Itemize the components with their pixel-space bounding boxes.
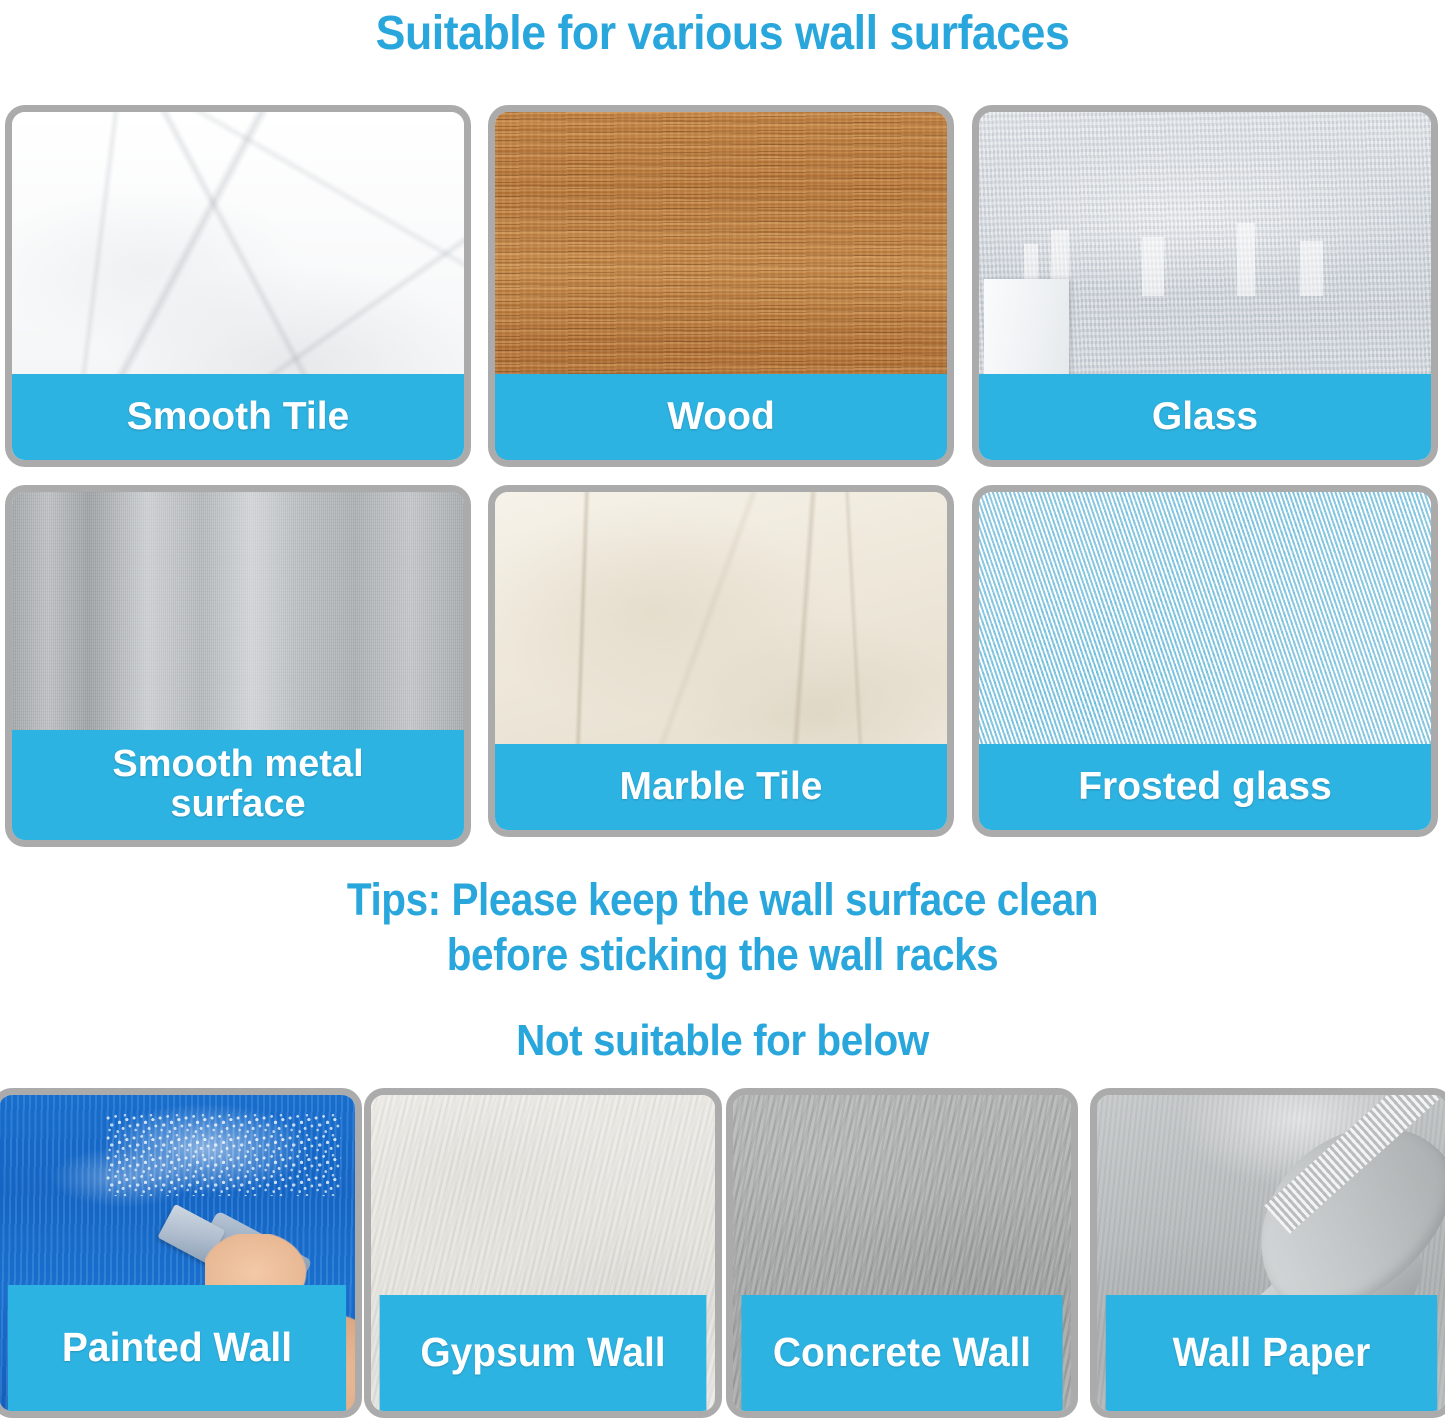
surface-card-label: Wood: [495, 374, 947, 460]
unsuitable-card-painted-wall: Painted Wall: [0, 1088, 362, 1418]
surface-card-label: Smooth metal surface: [12, 730, 464, 840]
surface-card-marble-tile: Marble Tile: [488, 485, 954, 837]
unsuitable-card-label: Wall Paper: [1106, 1295, 1438, 1411]
surface-card-smooth-metal-surface: Smooth metal surface: [5, 485, 471, 847]
building-silhouette: [1237, 223, 1255, 296]
surface-card-wood: Wood: [488, 105, 954, 467]
building-silhouette: [1142, 237, 1165, 296]
unsuitable-card-wall-paper: Wall Paper: [1090, 1088, 1445, 1418]
surface-card-glass: Glass: [972, 105, 1438, 467]
not-suitable-title: Not suitable for below: [58, 1017, 1387, 1065]
unsuitable-card-label: Concrete Wall: [741, 1295, 1062, 1411]
surface-card-label: Smooth Tile: [12, 374, 464, 460]
building-silhouette: [1300, 241, 1323, 297]
surface-card-label: Frosted glass: [979, 744, 1431, 830]
unsuitable-card-gypsum-wall: Gypsum Wall: [364, 1088, 722, 1418]
unsuitable-card-label: Gypsum Wall: [380, 1295, 707, 1411]
surface-card-smooth-tile: Smooth Tile: [5, 105, 471, 467]
surface-card-frosted-glass: Frosted glass: [972, 485, 1438, 837]
unsuitable-card-label: Painted Wall: [8, 1285, 346, 1411]
page-title: Suitable for various wall surfaces: [51, 8, 1395, 60]
surface-card-label: Glass: [979, 374, 1431, 460]
unsuitable-card-concrete-wall: Concrete Wall: [726, 1088, 1078, 1418]
paint-speckle-overlay: [106, 1114, 341, 1196]
tips-text: Tips: Please keep the wall surface clean…: [72, 873, 1373, 983]
surface-card-label: Marble Tile: [495, 744, 947, 830]
